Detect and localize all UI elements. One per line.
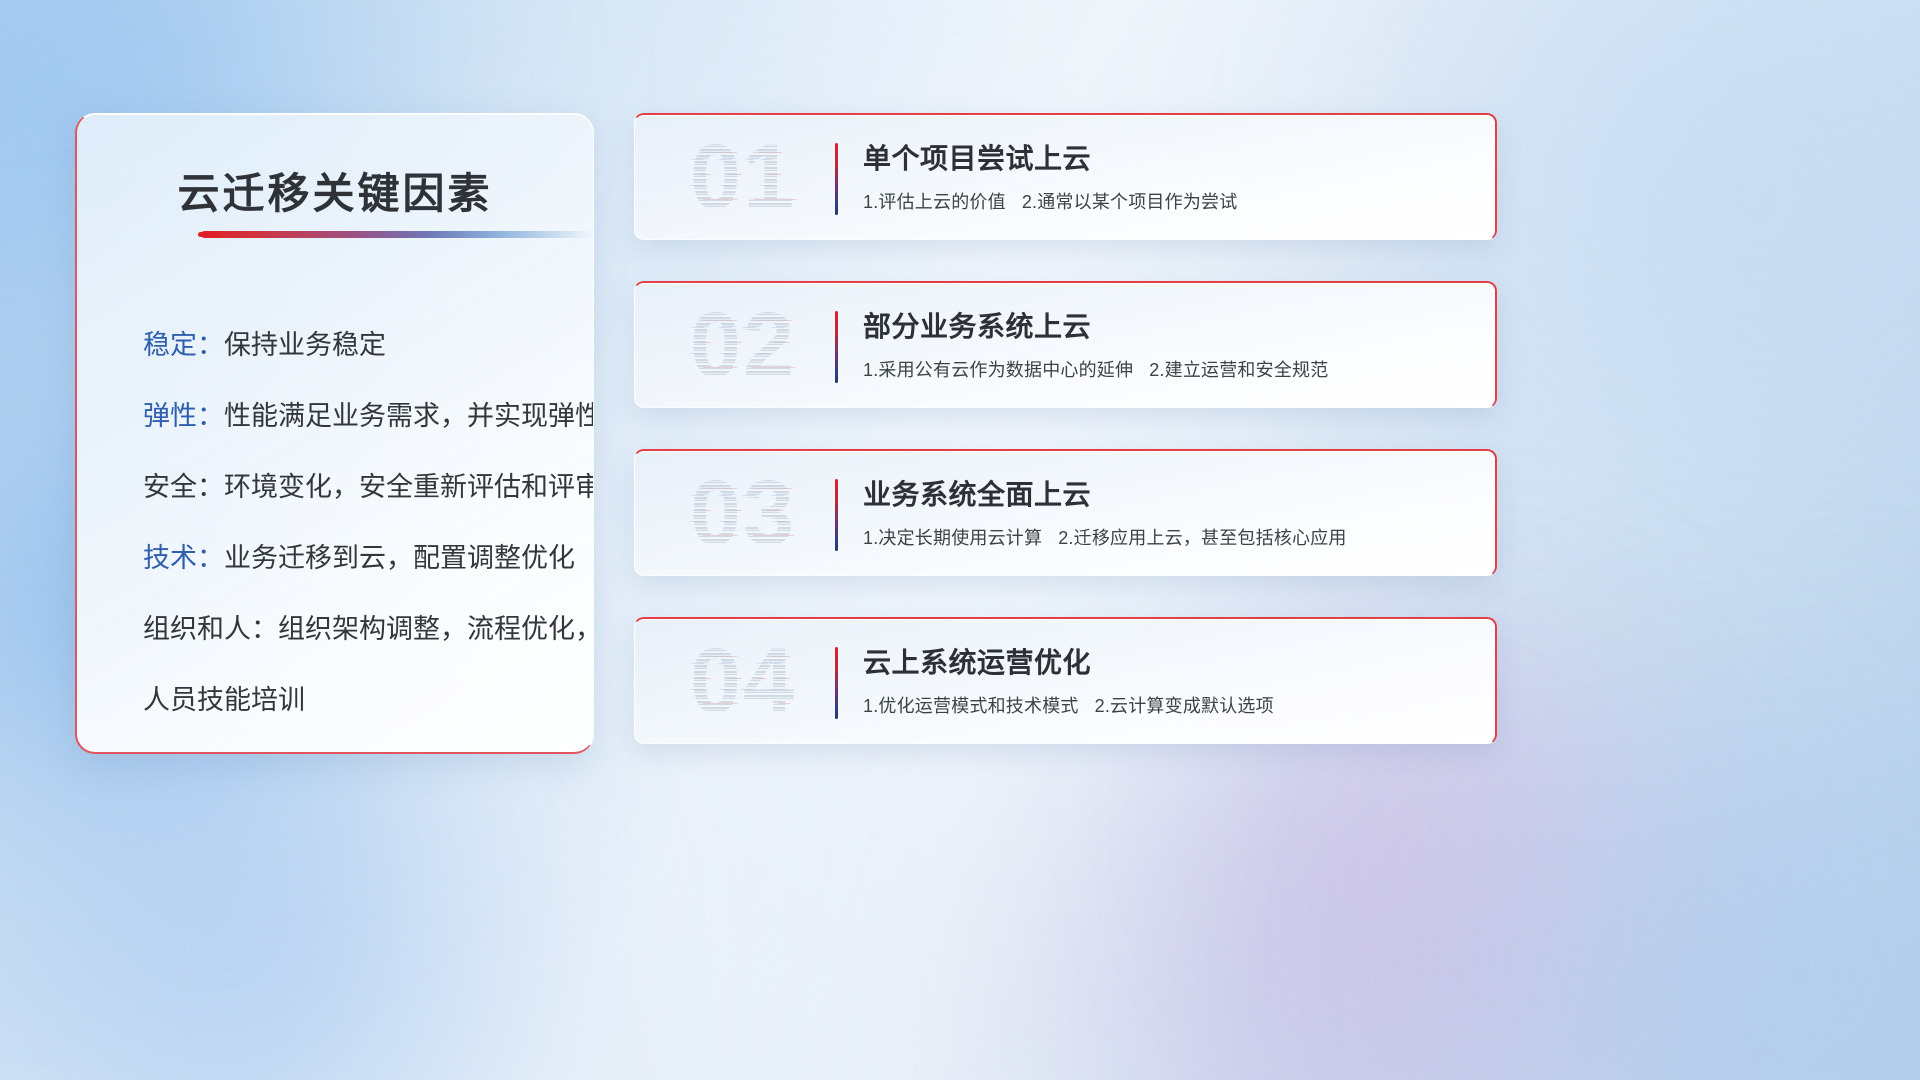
factor-row-security: 安全：环境变化，安全重新评估和评审 [143,452,551,523]
step-number: 01 [663,125,823,229]
step-point-2: 2.迁移应用上云，甚至包括核心应用 [1058,528,1346,548]
factor-label: 弹性： [143,401,224,431]
factor-row-organization-cont: 人员技能培训 [143,665,551,736]
step-divider-bar [835,311,838,383]
step-divider-bar [835,479,838,551]
step-subtitle: 1.评估上云的价值2.通常以某个项目作为尝试 [863,187,1471,217]
step-point-2: 2.云计算变成默认选项 [1095,696,1274,716]
factor-label: 稳定： [143,330,224,360]
step-card-04[interactable]: 04 04 04 云上系统运营优化 1.优化运营模式和技术模式2.云计算变成默认… [634,617,1497,744]
factor-row-stability: 稳定：保持业务稳定 [143,310,551,381]
step-point-1: 1.采用公有云作为数据中心的延伸 [863,360,1133,380]
factor-row-elasticity: 弹性：性能满足业务需求，并实现弹性 [143,381,551,452]
factor-label: 安全： [143,472,224,502]
step-divider-bar [835,143,838,215]
factor-label: 组织和人： [143,614,278,644]
factor-label: 技术： [143,543,224,573]
step-point-2: 2.通常以某个项目作为尝试 [1022,192,1238,212]
factor-text: 组织架构调整，流程优化， [278,614,594,644]
slide-stage: 云迁移关键因素 稳定：保持业务稳定 弹性：性能满足业务需求，并实现弹性 安全：环… [0,0,1920,1080]
step-title: 云上系统运营优化 [863,644,1471,682]
factor-list: 稳定：保持业务稳定 弹性：性能满足业务需求，并实现弹性 安全：环境变化，安全重新… [77,310,593,736]
step-body: 业务系统全面上云 1.决定长期使用云计算2.迁移应用上云，甚至包括核心应用 [863,476,1471,553]
step-number: 02 [663,293,823,397]
step-divider-bar [835,647,838,719]
factor-text: 环境变化，安全重新评估和评审 [224,472,594,502]
step-body: 部分业务系统上云 1.采用公有云作为数据中心的延伸2.建立运营和安全规范 [863,308,1471,385]
factor-text: 人员技能培训 [143,685,305,715]
step-title: 单个项目尝试上云 [863,140,1471,178]
step-title: 业务系统全面上云 [863,476,1471,514]
factor-row-organization: 组织和人：组织架构调整，流程优化， [143,594,551,665]
key-factors-panel: 云迁移关键因素 稳定：保持业务稳定 弹性：性能满足业务需求，并实现弹性 安全：环… [75,113,594,754]
step-subtitle: 1.优化运营模式和技术模式2.云计算变成默认选项 [863,691,1471,721]
step-card-01[interactable]: 01 01 01 单个项目尝试上云 1.评估上云的价值2.通常以某个项目作为尝试 [634,113,1497,240]
factor-row-technology: 技术：业务迁移到云，配置调整优化 [143,523,551,594]
step-subtitle: 1.决定长期使用云计算2.迁移应用上云，甚至包括核心应用 [863,523,1471,553]
step-point-2: 2.建立运营和安全规范 [1149,360,1328,380]
step-title: 部分业务系统上云 [863,308,1471,346]
step-card-03[interactable]: 03 03 03 业务系统全面上云 1.决定长期使用云计算2.迁移应用上云，甚至… [634,449,1497,576]
step-card-02[interactable]: 02 02 02 部分业务系统上云 1.采用公有云作为数据中心的延伸2.建立运营… [634,281,1497,408]
title-underline-rule [201,231,593,238]
step-body: 云上系统运营优化 1.优化运营模式和技术模式2.云计算变成默认选项 [863,644,1471,721]
step-number: 03 [663,461,823,565]
step-point-1: 1.优化运营模式和技术模式 [863,696,1079,716]
page-title: 云迁移关键因素 [77,160,593,221]
step-number: 04 [663,629,823,733]
step-point-1: 1.评估上云的价值 [863,192,1006,212]
factor-text: 业务迁移到云，配置调整优化 [224,543,575,573]
step-subtitle: 1.采用公有云作为数据中心的延伸2.建立运营和安全规范 [863,355,1471,385]
factor-text: 性能满足业务需求，并实现弹性 [224,401,594,431]
step-body: 单个项目尝试上云 1.评估上云的价值2.通常以某个项目作为尝试 [863,140,1471,217]
factor-text: 保持业务稳定 [224,330,386,360]
step-point-1: 1.决定长期使用云计算 [863,528,1042,548]
migration-steps-list: 01 01 01 单个项目尝试上云 1.评估上云的价值2.通常以某个项目作为尝试… [634,113,1497,744]
